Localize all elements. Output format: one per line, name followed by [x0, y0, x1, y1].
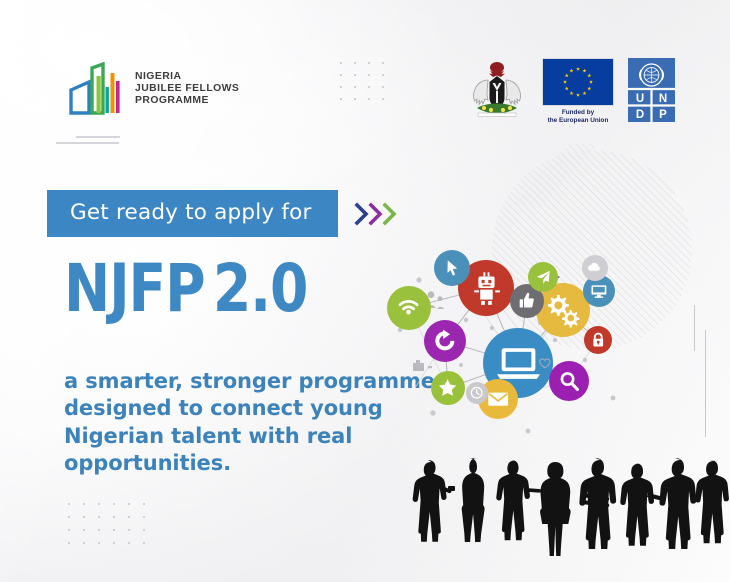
dot-grid-top — [340, 62, 396, 110]
title-version: 2.0 — [213, 250, 307, 327]
logo-line-1: NIGERIA — [135, 71, 239, 83]
send-node — [528, 262, 558, 292]
lock-node — [584, 326, 612, 354]
njfp-logo: NIGERIA JUBILEE FELLOWS PROGRAMME — [68, 62, 239, 116]
eu-funding-logo: Funded by the European Union — [542, 58, 614, 126]
send-icon — [528, 262, 558, 292]
lock-icon — [584, 326, 612, 354]
page-title: NJFP2.0 — [64, 250, 307, 327]
eu-caption-line-2: the European Union — [548, 117, 609, 125]
undp-logo-icon: U N D P — [628, 58, 675, 122]
logo-line-2: JUBILEE FELLOWS — [135, 83, 239, 95]
dot-grid-bottom — [68, 503, 158, 555]
partner-logos: Funded by the European Union U N D P — [466, 58, 675, 127]
heart-node — [533, 351, 557, 375]
star-node — [431, 371, 465, 405]
body-copy: a smarter, stronger programme designed t… — [64, 368, 436, 477]
njfp-logo-text: NIGERIA JUBILEE FELLOWS PROGRAMME — [135, 71, 239, 107]
chevron-purple-icon — [371, 205, 380, 223]
chevron-group — [354, 201, 404, 227]
people-silhouettes-icon — [403, 448, 730, 582]
logo-buildings-icon — [68, 62, 126, 116]
cloud-icon — [582, 255, 608, 281]
triple-chevron-icon — [354, 201, 404, 227]
refresh-icon — [424, 320, 466, 362]
heart-outline-icon — [533, 351, 557, 375]
chevron-green-icon — [385, 205, 394, 223]
eu-caption-line-1: Funded by — [548, 109, 609, 117]
undp-letter-p: P — [659, 109, 667, 121]
njfp-logo-mark — [68, 62, 126, 116]
nigeria-coat-of-arms — [466, 58, 528, 125]
logo-line-3: PROGRAMME — [135, 95, 239, 107]
headline-row: Get ready to apply for — [47, 190, 404, 237]
clock-node — [466, 382, 488, 404]
chevron-navy-icon — [357, 205, 366, 223]
poster-canvas: NIGERIA JUBILEE FELLOWS PROGRAMME — [0, 0, 730, 582]
eu-flag-icon — [542, 58, 614, 106]
star-icon — [431, 371, 465, 405]
undp-letter-d: D — [636, 109, 644, 121]
undp-letter-u: U — [636, 93, 644, 105]
get-ready-band: Get ready to apply for — [47, 190, 338, 237]
clock-icon — [466, 382, 488, 404]
cloud-node — [582, 255, 608, 281]
eu-stars-icon — [543, 59, 613, 105]
business-people-silhouettes — [403, 448, 730, 582]
cursor-icon — [434, 250, 470, 286]
coat-of-arms-icon — [466, 58, 528, 120]
refresh-node — [424, 320, 466, 362]
cursor-node — [434, 250, 470, 286]
undp-letter-n: N — [659, 93, 667, 105]
band-text: Get ready to apply for — [70, 200, 312, 225]
horizontal-line-lower — [56, 142, 119, 144]
eu-caption: Funded by the European Union — [548, 109, 609, 126]
undp-logo: U N D P — [628, 58, 675, 127]
title-main: NJFP — [64, 250, 204, 327]
horizontal-line-upper — [76, 136, 120, 138]
